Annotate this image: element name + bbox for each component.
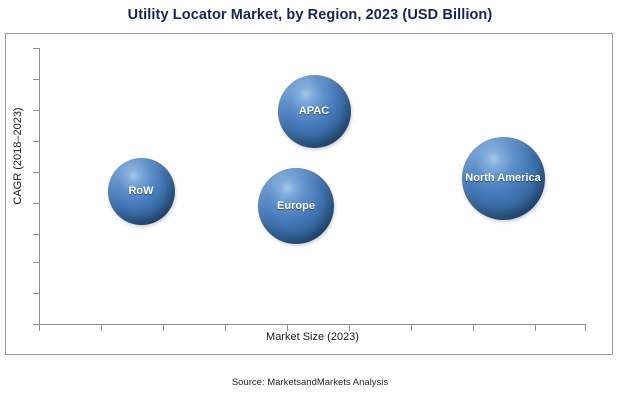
plot-area: RoWEuropeAPACNorth America	[39, 48, 585, 324]
bubble-label: North America	[463, 172, 542, 185]
bubble-apac[interactable]: APAC	[278, 75, 351, 148]
bubble-label: RoW	[126, 185, 155, 198]
bubble-north-america[interactable]: North America	[462, 137, 545, 220]
x-axis-title: Market Size (2023)	[39, 331, 586, 343]
page-title: Utility Locator Market, by Region, 2023 …	[0, 7, 620, 23]
x-axis-line	[39, 324, 586, 325]
bubble-label: APAC	[297, 105, 331, 118]
bubble-europe[interactable]: Europe	[258, 168, 334, 244]
bubble-row[interactable]: RoW	[108, 158, 175, 225]
y-axis-title: CAGR (2018–2023)	[12, 76, 24, 236]
chart-page: Utility Locator Market, by Region, 2023 …	[0, 0, 620, 407]
source-note: Source: MarketsandMarkets Analysis	[0, 377, 620, 388]
bubble-label: Europe	[275, 200, 317, 213]
